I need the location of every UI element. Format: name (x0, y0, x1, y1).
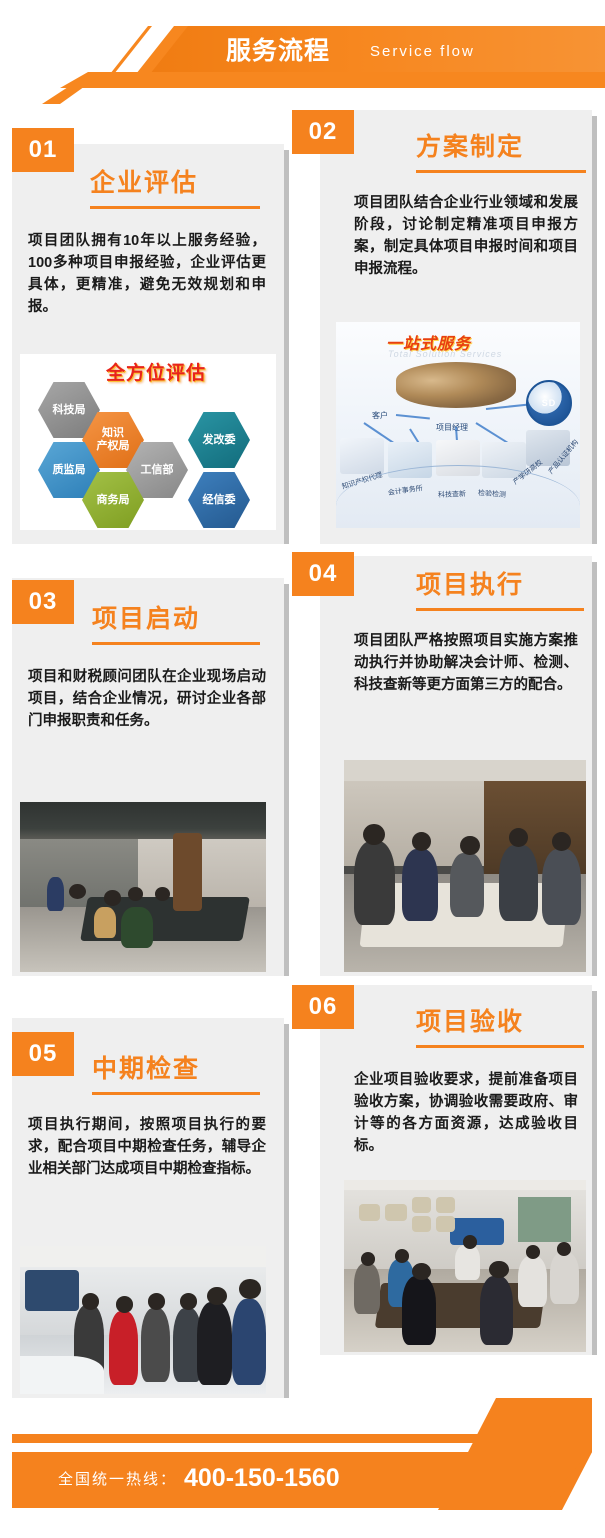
page-title: 服务流程 (226, 32, 330, 70)
figure-label-customer: 客户 (372, 410, 388, 421)
figure-heading: 全方位评估 (106, 358, 206, 385)
page-header: 服务流程 Service flow (0, 0, 605, 104)
step-title: 项目执行 (416, 570, 524, 600)
certification-seal-icon: SD (526, 380, 572, 426)
page-subtitle: Service flow (370, 41, 475, 63)
step-number-badge: 05 (12, 1032, 74, 1076)
service-flow-poster: 服务流程 Service flow 01 企业评估 项目团队拥有10年以上服务经… (0, 0, 605, 1538)
step-photo-03 (20, 802, 266, 972)
step-description: 项目执行期间，按照项目执行的要求，配合项目中期检查任务，辅导企业相关部门达成项目… (28, 1114, 266, 1180)
title-underline (416, 1045, 584, 1048)
step-title: 项目启动 (92, 604, 200, 634)
hotline-number[interactable]: 400-150-1560 (184, 1461, 340, 1495)
title-underline (92, 1092, 260, 1095)
step-number-badge: 04 (292, 552, 354, 596)
step-card-01[interactable]: 01 企业评估 项目团队拥有10年以上服务经验，100多种项目申报经验，企业评估… (12, 144, 284, 544)
figure-label-pm: 项目经理 (436, 422, 468, 433)
step-description: 项目和财税顾问团队在企业现场启动项目，结合企业情况，研讨企业各部门申报职责和任务… (28, 666, 266, 732)
figure-center-photo (396, 362, 516, 408)
step-photo-05 (20, 1246, 266, 1394)
step-title: 企业评估 (90, 168, 198, 198)
step-description: 项目团队严格按照项目实施方案推动执行并协助解决会计师、检测、科技查新等更方面第三… (354, 630, 578, 696)
step-number-badge: 02 (292, 110, 354, 154)
figure-arrow-1 (396, 414, 430, 420)
service-network-figure: 一站式服务 Total Solution Services 客户 项目经理 SD… (336, 322, 580, 528)
hotline-label: 全国统一热线： (58, 1468, 177, 1492)
step-card-02[interactable]: 02 方案制定 项目团队结合企业行业领域和发展阶段，讨论制定精准项目申报方案，制… (320, 110, 592, 544)
header-underline-slash (42, 74, 102, 104)
step-title: 项目验收 (416, 1007, 524, 1037)
step-description: 项目团队结合企业行业领域和发展阶段，讨论制定精准项目申报方案，制定具体项目申报时… (354, 192, 578, 280)
figure-node-1 (340, 438, 384, 474)
step-photo-06 (344, 1180, 586, 1352)
hex-node-fagai: 发改委 (188, 412, 250, 468)
assessment-figure: 全方位评估 科技局 知识产权局 质监局 工信部 商务局 发改委 经信委 (20, 354, 276, 530)
step-number-badge: 06 (292, 985, 354, 1029)
header-underline-bar (60, 72, 605, 88)
step-title: 方案制定 (416, 132, 524, 162)
step-description: 企业项目验收要求，提前准备项目验收方案，协调验收需要政府、审计等的各方面资源，达… (354, 1069, 578, 1157)
hex-node-jingxin: 经信委 (188, 472, 250, 528)
step-title: 中期检查 (92, 1054, 200, 1084)
title-underline (416, 170, 586, 173)
title-underline (92, 642, 260, 645)
step-description: 项目团队拥有10年以上服务经验，100多种项目申报经验，企业评估更具体，更精准，… (28, 230, 266, 318)
step-number-badge: 01 (12, 128, 74, 172)
figure-heading-en: Total Solution Services (388, 349, 502, 359)
title-underline (90, 206, 260, 209)
title-underline (416, 608, 584, 611)
step-photo-04 (344, 760, 586, 972)
step-number-badge: 03 (12, 580, 74, 624)
